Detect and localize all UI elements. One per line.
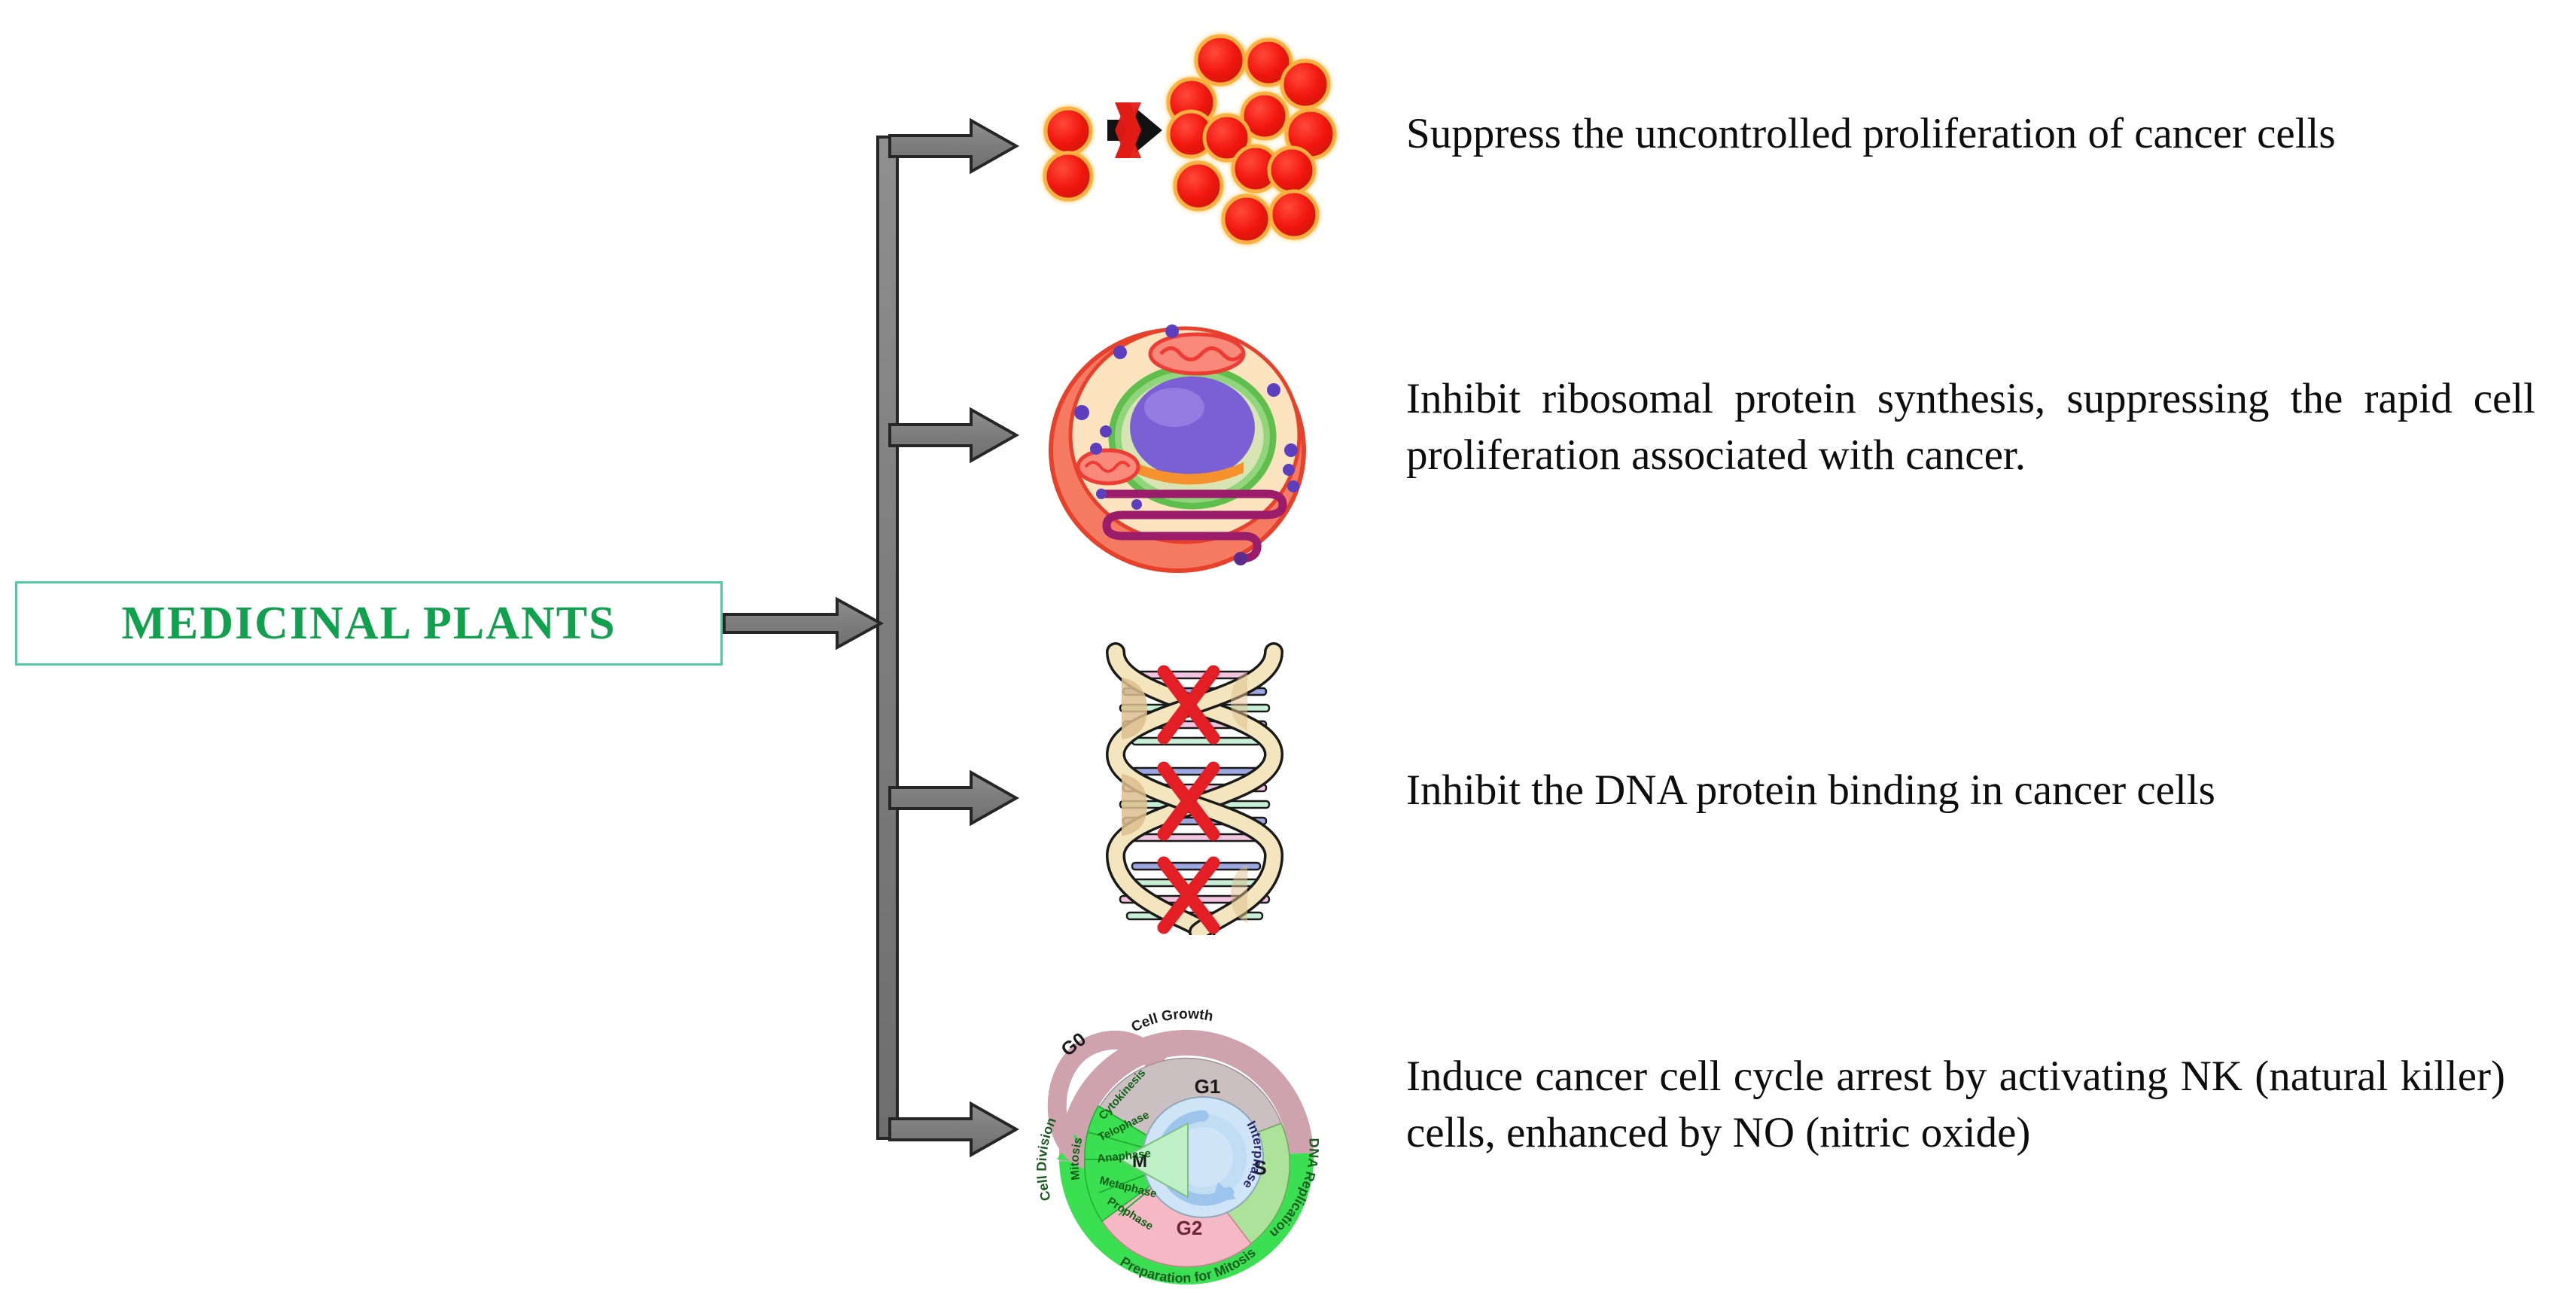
mitochondrion-left <box>1078 450 1138 483</box>
branch-text-cellcycle: Induce cancer cell cycle arrest by activ… <box>1406 1048 2505 1161</box>
connector-arrow-main <box>724 599 881 647</box>
connector-arrow-branch-1 <box>890 120 1016 172</box>
mitochondrion-top <box>1150 334 1244 373</box>
proliferating-cell-cluster <box>1168 36 1335 242</box>
er-end-dot <box>1234 552 1247 565</box>
dna-double-helix-blocked-illustration <box>1086 641 1311 935</box>
branch-text-dna: Inhibit the DNA protein binding in cance… <box>1406 762 2550 818</box>
connector-arrow-branch-3 <box>890 772 1016 824</box>
connector-trunk <box>878 137 897 1138</box>
source-node-medicinal-plants: MEDICINAL PLANTS <box>15 581 723 666</box>
connector-arrow-branch-4 <box>890 1104 1016 1155</box>
branch-text-proliferation: Suppress the uncontrolled proliferation … <box>1406 105 2550 162</box>
cell-division-label: Cell Division <box>1034 1115 1059 1202</box>
cell-cycle-diagram: G0 G1 S G2 M <box>1006 973 1367 1304</box>
normal-cell-group <box>1045 108 1092 200</box>
eukaryotic-cell-illustration <box>1018 300 1334 586</box>
nucleus-highlight <box>1144 388 1204 427</box>
connector-arrow-branch-2 <box>890 410 1016 461</box>
cancer-cell-proliferation-illustration <box>1030 20 1376 268</box>
blocked-arrow-icon <box>1107 102 1162 158</box>
g1-label: G1 <box>1195 1075 1221 1098</box>
g2-label: G2 <box>1177 1217 1203 1239</box>
branch-text-ribosome: Inhibit ribosomal protein synthesis, sup… <box>1406 370 2535 483</box>
source-node-label: MEDICINAL PLANTS <box>121 597 616 650</box>
